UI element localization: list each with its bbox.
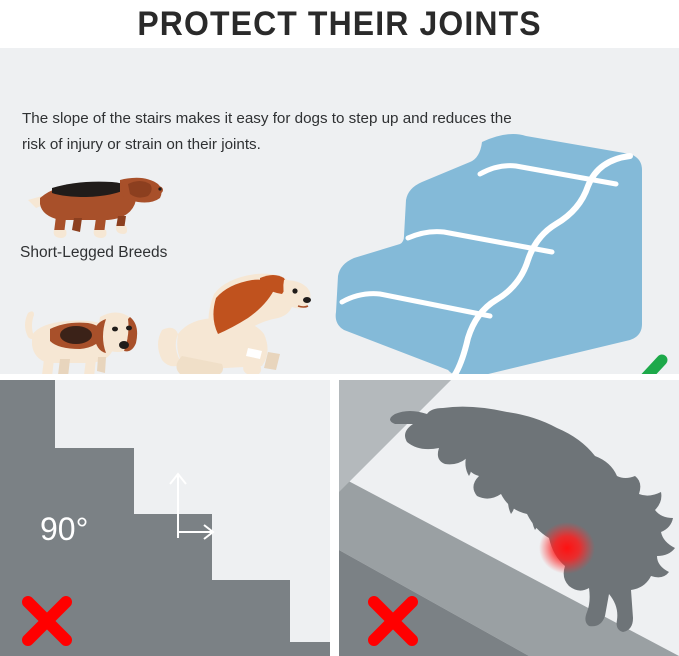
x-icon-steep-stairs	[18, 592, 76, 650]
top-panel: The slope of the stairs makes it easy fo…	[0, 48, 679, 374]
short-legged-dog-illustration	[12, 160, 172, 240]
pet-stairs-product-illustration	[330, 126, 670, 374]
senior-dog-illustration	[14, 291, 144, 374]
label-short-legged-breeds: Short-Legged Breeds	[20, 244, 167, 262]
check-icon	[600, 354, 668, 374]
bottom-right-panel	[339, 380, 679, 656]
x-icon-jumping-down	[364, 592, 422, 650]
angle-label: 90°	[40, 511, 88, 547]
bottom-left-panel: 90°	[0, 380, 330, 656]
infographic-page: PROTECT THEIR JOINTS The slope of the st…	[0, 0, 679, 656]
injured-dog-illustration	[152, 260, 322, 374]
page-title: PROTECT THEIR JOINTS	[20, 0, 658, 48]
